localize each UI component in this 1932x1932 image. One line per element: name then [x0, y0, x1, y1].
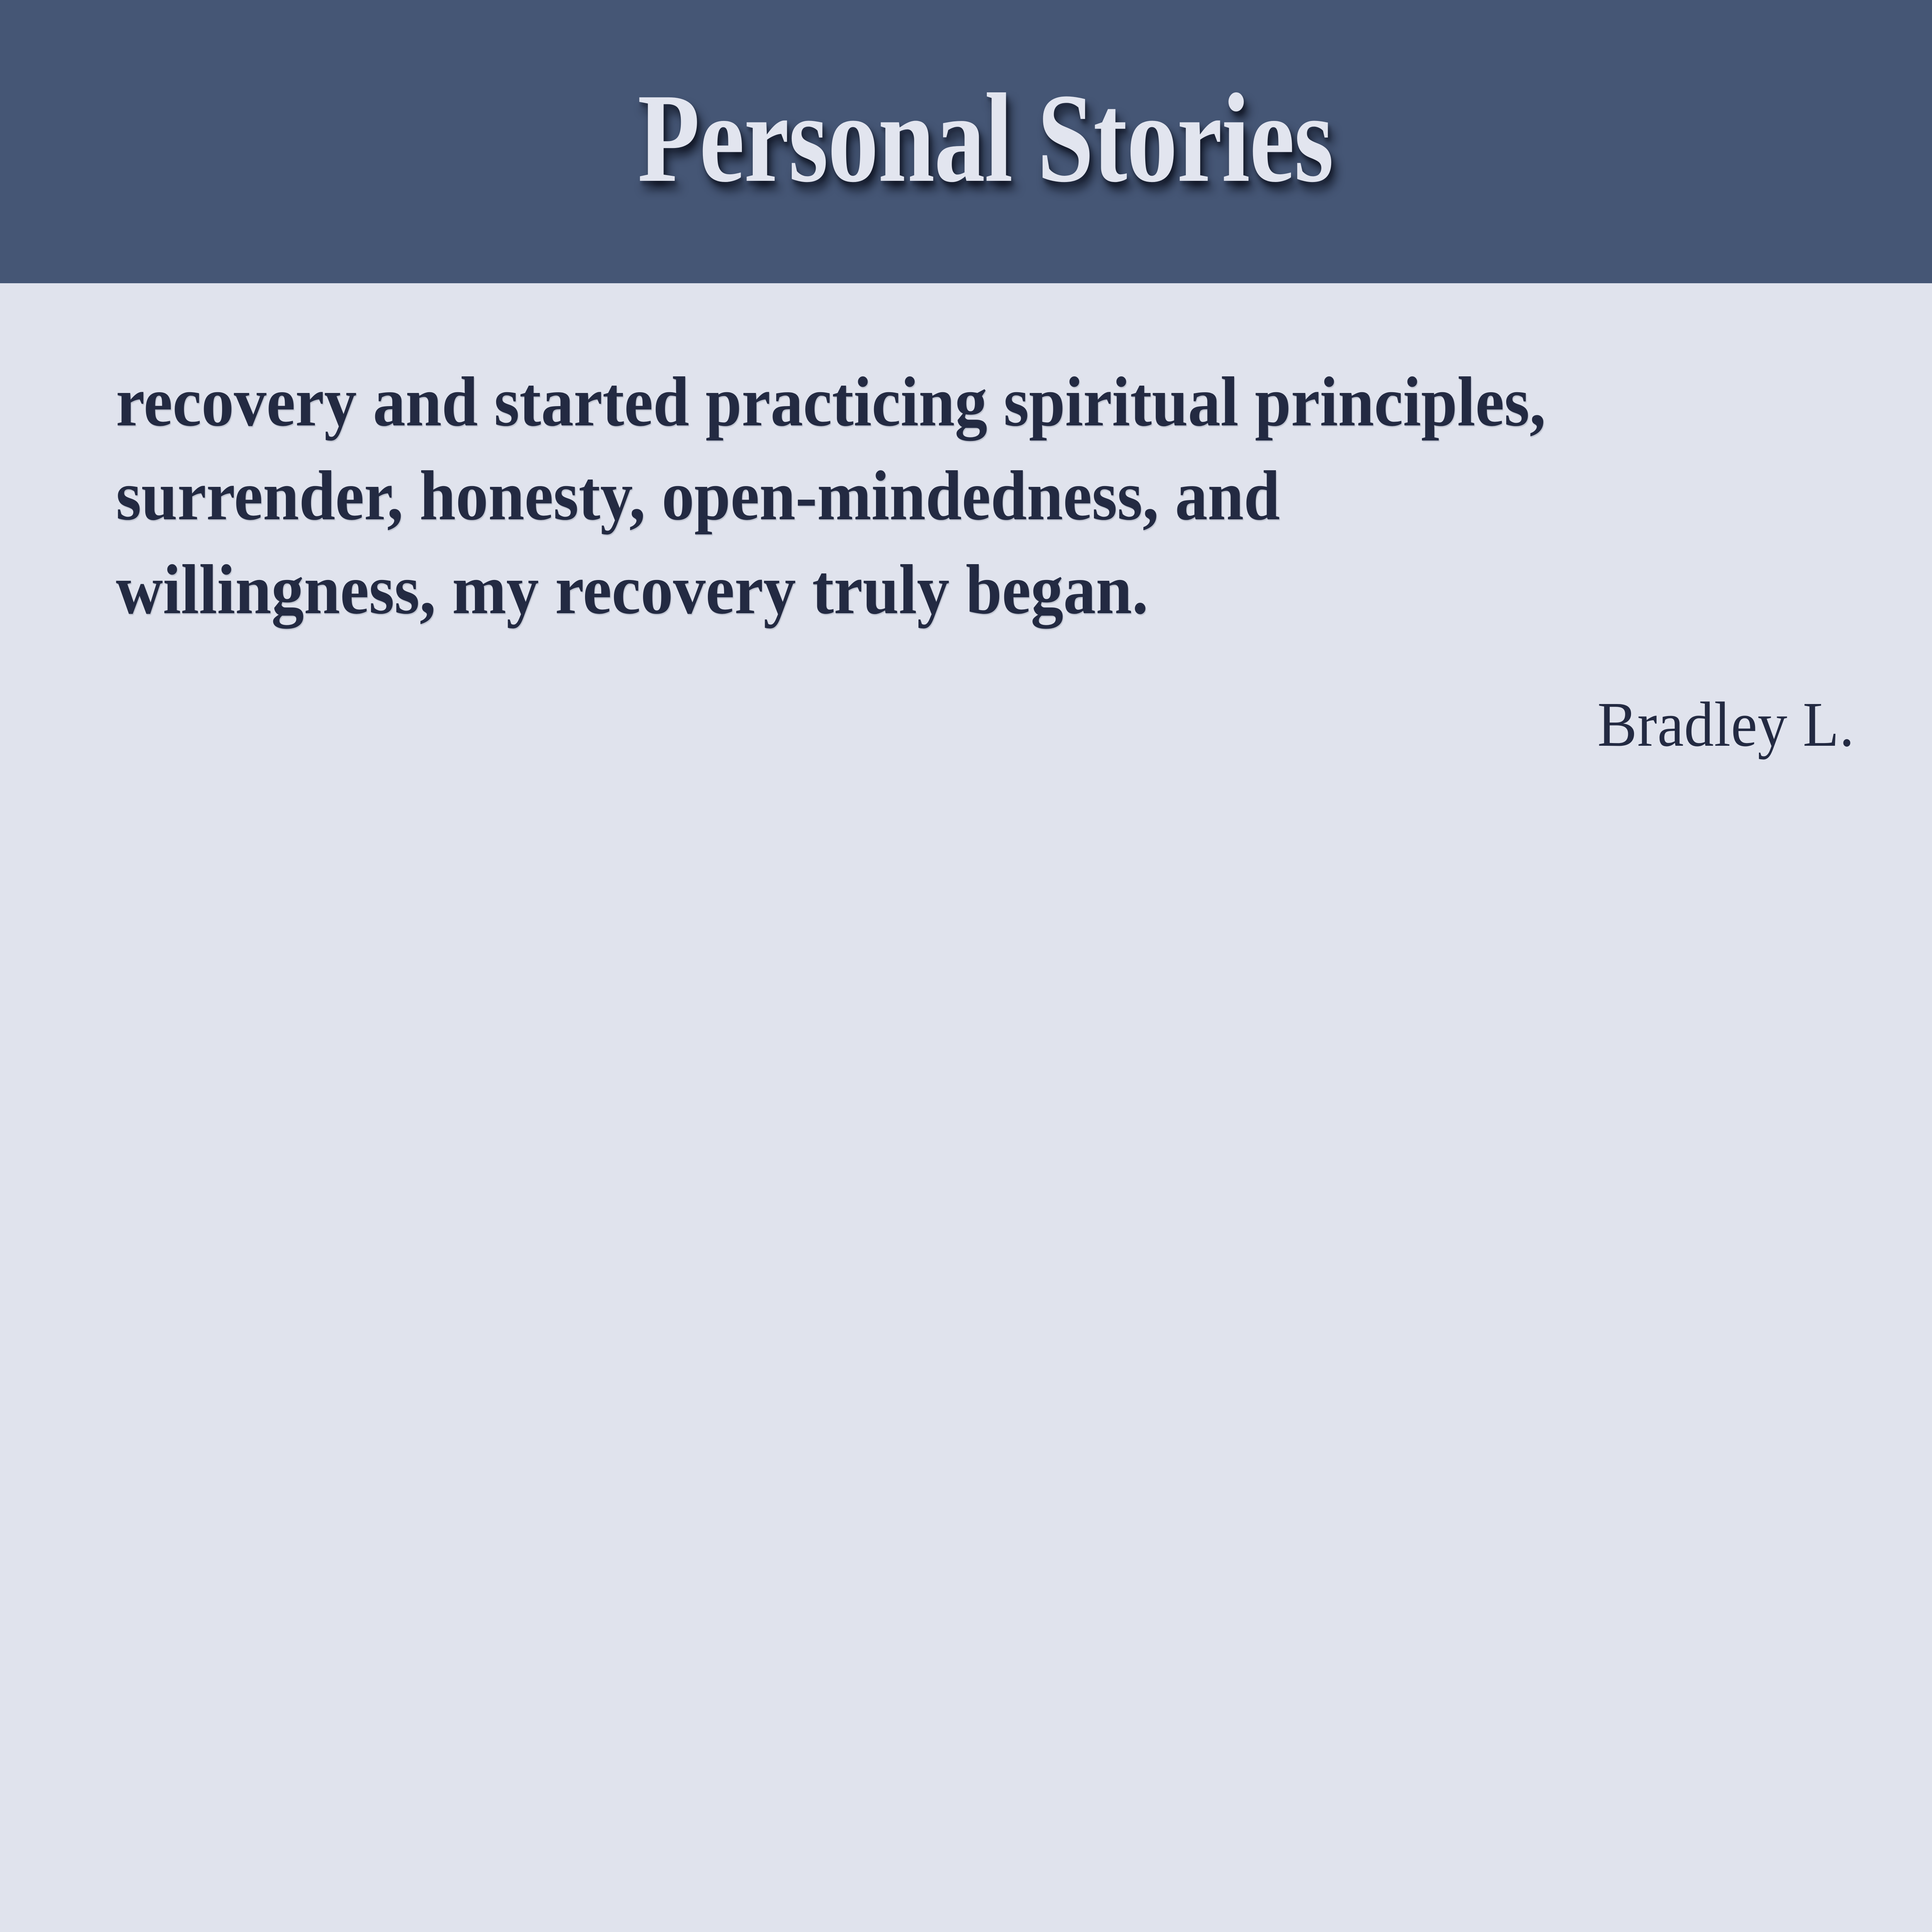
attribution-row: Bradley L.: [116, 691, 1855, 758]
page-header: Personal Stories: [0, 0, 1932, 283]
page-content: recovery and started practicing spiritua…: [0, 283, 1932, 1932]
story-paragraph-line: willingness, my recovery truly began.: [116, 543, 1680, 636]
page-root: Personal Stories recovery and started pr…: [0, 0, 1932, 1932]
story-text-block: recovery and started practicing spiritua…: [116, 355, 1816, 636]
story-paragraph-line: recovery and started practicing spiritua…: [116, 355, 1680, 449]
page-title: Personal Stories: [638, 75, 1333, 209]
story-paragraph: recovery and started practicing spiritua…: [116, 355, 1816, 636]
story-author-attribution: Bradley L.: [1597, 691, 1855, 758]
story-paragraph-line: surrender, honesty, open-mindedness, and: [116, 449, 1680, 543]
